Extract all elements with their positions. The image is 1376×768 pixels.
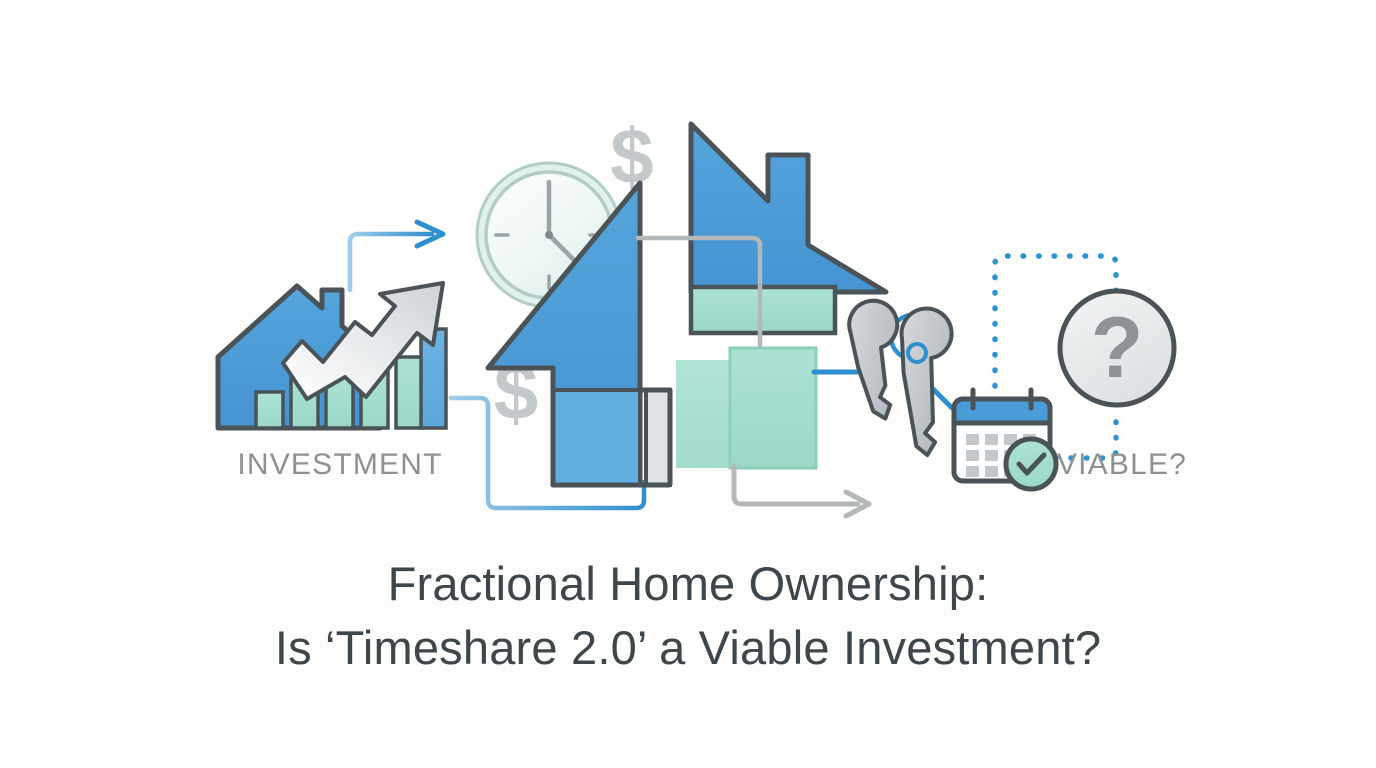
house-growth-chart-icon: INVESTMENT: [218, 283, 446, 481]
blue-elbow-arrow-connector: [350, 222, 443, 290]
calendar-check-icon: [954, 390, 1056, 489]
keys-icon: [843, 296, 964, 457]
investment-label: INVESTMENT: [237, 448, 442, 481]
title-line-1: Fractional Home Ownership:: [0, 552, 1376, 616]
title-line-2: Is ‘Timeshare 2.0’ a Viable Investment?: [0, 616, 1376, 680]
question-mark-badge-icon: ?: [1060, 291, 1174, 405]
illustration-canvas: INVESTMENT $ $: [0, 0, 1376, 768]
page-title: Fractional Home Ownership: Is ‘Timeshare…: [0, 552, 1376, 680]
dollar-sign-icon: $: [610, 112, 653, 200]
fractional-house-icon: [676, 124, 886, 468]
gray-elbow-arrow-connector: [734, 466, 869, 516]
viable-label: VIABLE?: [1057, 448, 1187, 481]
svg-text:?: ?: [1091, 300, 1144, 396]
